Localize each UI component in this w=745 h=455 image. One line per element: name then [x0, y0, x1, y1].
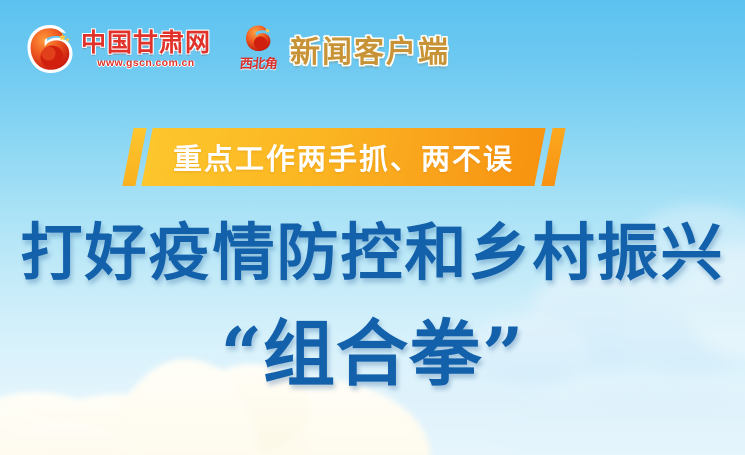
gscn-site-name: 中国甘肃网	[81, 30, 211, 55]
xibeijiao-flame-logo-icon	[239, 24, 279, 52]
gscn-logo[interactable]: 中国甘肃网 www.gscn.com.cn	[26, 24, 211, 74]
xibeijiao-seal-text: 西北角	[239, 53, 279, 72]
subtitle-banner: 重点工作两手抓、两不误	[128, 128, 560, 186]
xibeijiao-logo-block: 西北角	[237, 24, 281, 74]
poster-canvas: 中国甘肃网 www.gscn.com.cn	[0, 0, 745, 455]
news-client-wordmark: 新闻客户端	[290, 27, 450, 71]
headline-line-1: 打好疫情防控和乡村振兴	[0, 222, 745, 284]
xibeijiao-news-client-logo[interactable]: 西北角 新闻客户端	[237, 24, 450, 74]
headline-line-2: “组合拳”	[0, 318, 745, 390]
subtitle-banner-body: 重点工作两手抓、两不误	[141, 128, 545, 186]
brand-logo-bar: 中国甘肃网 www.gscn.com.cn	[26, 20, 450, 78]
gscn-wordmark: 中国甘肃网 www.gscn.com.cn	[81, 30, 211, 69]
subtitle-banner-text: 重点工作两手抓、两不误	[173, 136, 514, 178]
gscn-site-url: www.gscn.com.cn	[97, 58, 194, 69]
banner-accent-slash-right	[541, 128, 565, 186]
gscn-swirl-logo-icon	[26, 24, 74, 74]
